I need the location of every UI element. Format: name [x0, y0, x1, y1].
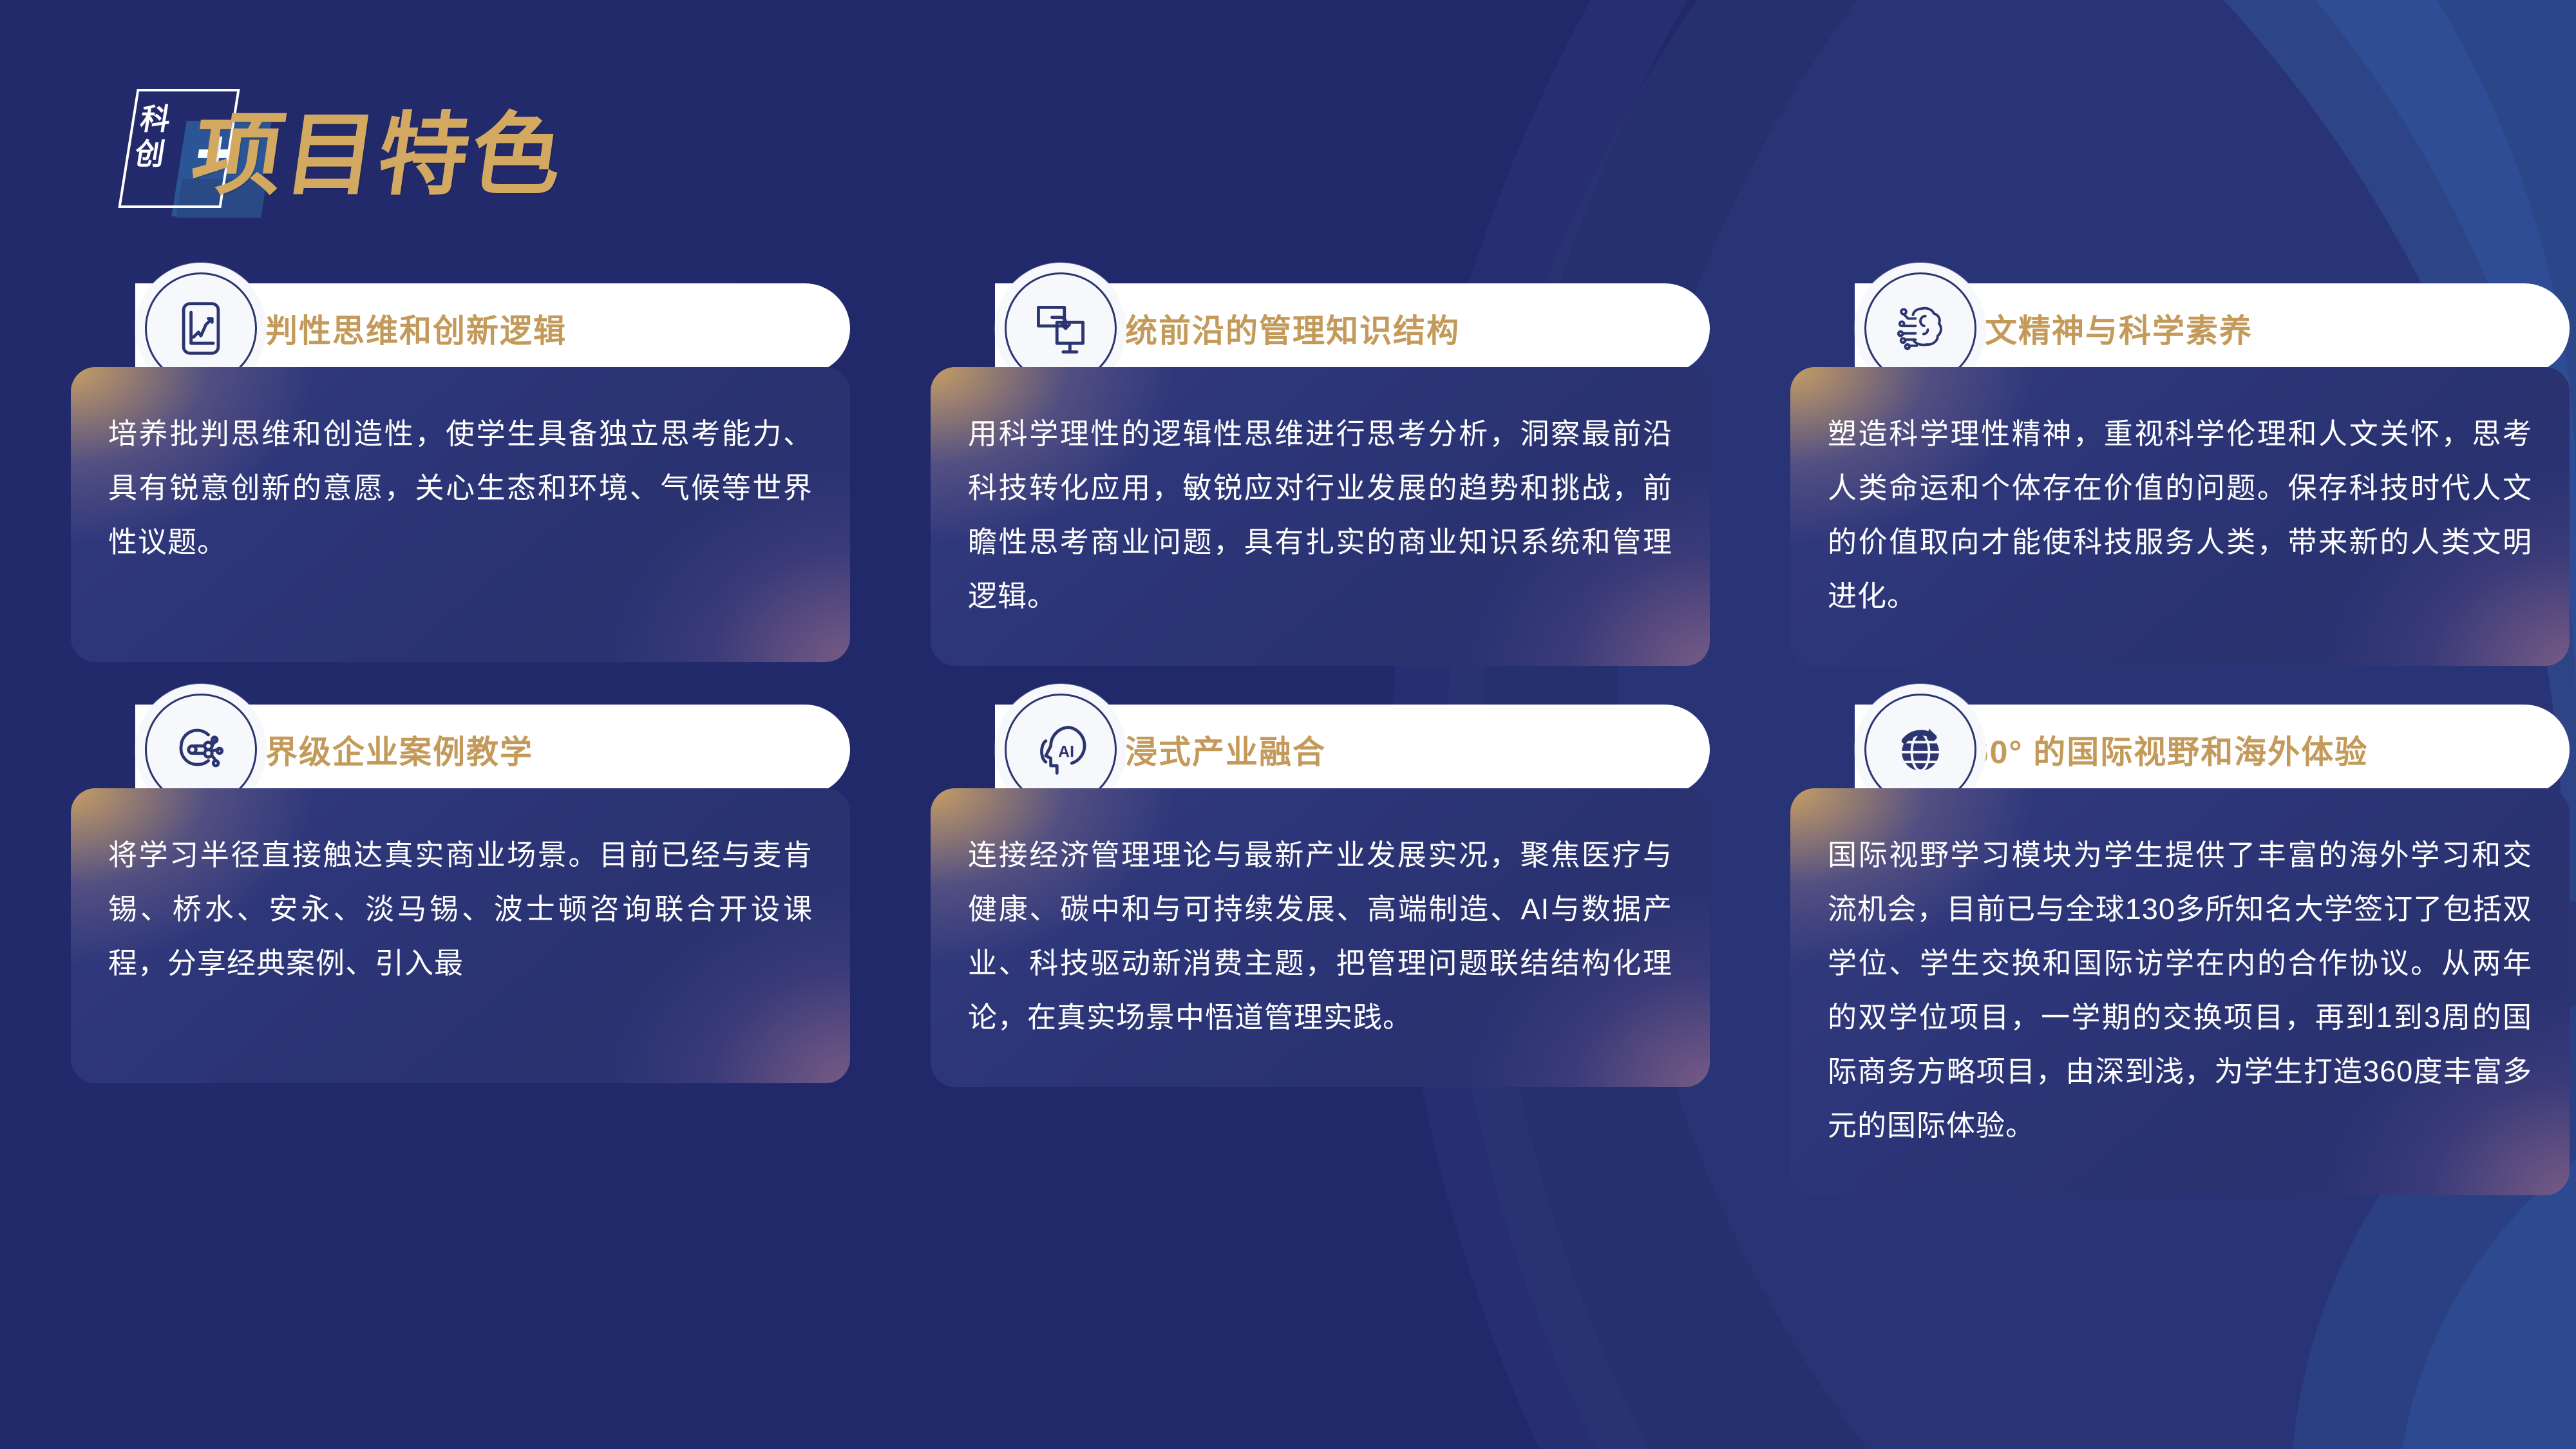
card-header[interactable]: 360° 的国际视野和海外体验 — [1855, 705, 2570, 795]
card-body-text: 塑造科学理性精神，重视科学伦理和人文关怀，思考人类命运和个体存在价值的问题。保存… — [1828, 407, 2532, 623]
ai-brain-circuit-icon — [1889, 298, 1951, 359]
feature-card[interactable]: 人文精神与科学素养 塑造科学理性精神，重视科学伦理和人文关怀，思考人类命运和个体… — [1790, 283, 2570, 666]
globe-arrow-icon — [1889, 719, 1951, 781]
feature-card[interactable]: 批判性思维和创新逻辑 培养批判思维和创造性，使学生具备独立思考能力、具有锐意创新… — [71, 283, 850, 666]
feature-card[interactable]: 世界级企业案例教学 将学习半径直接触达真实商业场景。目前已经与麦肯锡、桥水、安永… — [71, 705, 850, 1195]
card-header[interactable]: AI 沉浸式产业融合 — [995, 705, 1710, 795]
card-body: 塑造科学理性精神，重视科学伦理和人文关怀，思考人类命运和个体存在价值的问题。保存… — [1790, 367, 2570, 666]
card-header[interactable]: 批判性思维和创新逻辑 — [135, 283, 850, 374]
logo-char-chuang: 创 — [132, 137, 166, 171]
card-body-text: 连接经济管理理论与最新产业发展实况，聚焦医疗与健康、碳中和与可持续发展、高端制造… — [968, 828, 1672, 1045]
page-title: 项目特色 — [186, 107, 571, 204]
card-title: 批判性思维和创新逻辑 — [232, 305, 567, 352]
svg-text:AI: AI — [1058, 743, 1074, 761]
card-body: 培养批判思维和创造性，使学生具备独立思考能力、具有锐意创新的意愿，关心生态和环境… — [71, 367, 850, 662]
network-node-icon — [170, 719, 232, 781]
slide-stage: 科 创 项目特色 — [0, 0, 2576, 1449]
screen-sync-icon — [1030, 298, 1092, 359]
feature-card[interactable]: AI 沉浸式产业融合 连接经济管理理论与最新产业发展实况，聚焦医疗与健康、碳中和… — [931, 705, 1710, 1195]
card-body-text: 国际视野学习模块为学生提供了丰富的海外学习和交流机会，目前已与全球130多所知名… — [1828, 828, 2532, 1153]
card-body: 连接经济管理理论与最新产业发展实况，聚焦医疗与健康、碳中和与可持续发展、高端制造… — [931, 788, 1710, 1087]
title-block: 科 创 项目特色 — [122, 77, 702, 225]
logo-char-ke: 科 — [138, 102, 172, 137]
card-header[interactable]: 系统前沿的管理知识结构 — [995, 283, 1710, 374]
card-header[interactable]: 世界级企业案例教学 — [135, 705, 850, 795]
card-title: 系统前沿的管理知识结构 — [1092, 305, 1460, 352]
card-body-text: 将学习半径直接触达真实商业场景。目前已经与麦肯锡、桥水、安永、淡马锡、波士顿咨询… — [108, 828, 813, 990]
feature-card[interactable]: 360° 的国际视野和海外体验 国际视野学习模块为学生提供了丰富的海外学习和交流… — [1790, 705, 2570, 1195]
ai-head-icon: AI — [1030, 719, 1092, 781]
card-header[interactable]: 人文精神与科学素养 — [1855, 283, 2570, 374]
card-title: 沉浸式产业融合 — [1092, 726, 1326, 773]
card-body-text: 培养批判思维和创造性，使学生具备独立思考能力、具有锐意创新的意愿，关心生态和环境… — [108, 407, 813, 569]
card-title: 360° 的国际视野和海外体验 — [1951, 726, 2368, 773]
feature-card[interactable]: 系统前沿的管理知识结构 用科学理性的逻辑性思维进行思考分析，洞察最前沿科技转化应… — [931, 283, 1710, 666]
card-body-text: 用科学理性的逻辑性思维进行思考分析，洞察最前沿科技转化应用，敏锐应对行业发展的趋… — [968, 407, 1672, 623]
card-body: 用科学理性的逻辑性思维进行思考分析，洞察最前沿科技转化应用，敏锐应对行业发展的趋… — [931, 367, 1710, 666]
card-body: 将学习半径直接触达真实商业场景。目前已经与麦肯锡、桥水、安永、淡马锡、波士顿咨询… — [71, 788, 850, 1083]
card-title: 世界级企业案例教学 — [232, 726, 533, 773]
feature-card-grid: 批判性思维和创新逻辑 培养批判思维和创造性，使学生具备独立思考能力、具有锐意创新… — [71, 283, 2512, 1195]
growth-chart-icon — [170, 298, 232, 359]
card-title: 人文精神与科学素养 — [1951, 305, 2253, 352]
card-body: 国际视野学习模块为学生提供了丰富的海外学习和交流机会，目前已与全球130多所知名… — [1790, 788, 2570, 1195]
